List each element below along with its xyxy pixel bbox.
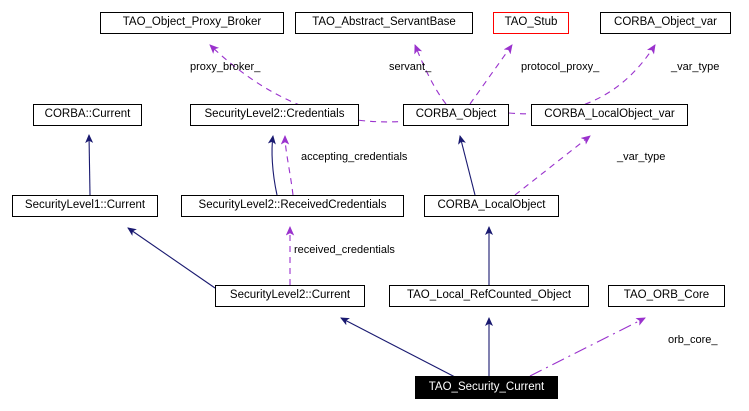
class-node-label: CORBA_LocalObject_var [544, 109, 674, 121]
class-node-securitylevel2-receivedcredentials[interactable]: SecurityLevel2::ReceivedCredentials [181, 195, 404, 217]
class-node-label: CORBA_LocalObject [437, 200, 545, 212]
class-node-tao-stub[interactable]: TAO_Stub [493, 12, 569, 34]
class-node-label: CORBA_Object_var [614, 17, 717, 29]
edge-label-received-credentials: received_credentials [294, 245, 395, 256]
edge-assoc-accepting-credentials [285, 136, 293, 195]
class-node-label: SecurityLevel2::ReceivedCredentials [199, 200, 387, 212]
edge-label-var-type-top: _var_type [671, 62, 719, 73]
edge-corba-current-securitylevel1-current [89, 135, 90, 195]
class-node-label: TAO_Abstract_ServantBase [312, 17, 456, 29]
edge-label-protocol-proxy: protocol_proxy_ [521, 62, 599, 73]
class-node-label: TAO_ORB_Core [624, 290, 709, 302]
class-node-label: CORBA_Object [416, 109, 497, 121]
class-node-label: SecurityLevel1::Current [25, 200, 145, 212]
class-node-label: SecurityLevel2::Current [230, 290, 350, 302]
class-node-label: SecurityLevel2::Credentials [205, 109, 345, 121]
edge-assoc-orb-core [530, 318, 645, 376]
class-node-label: TAO_Security_Current [429, 382, 544, 394]
class-node-tao-object-proxy-broker[interactable]: TAO_Object_Proxy_Broker [100, 12, 284, 34]
class-node-securitylevel2-current[interactable]: SecurityLevel2::Current [215, 285, 365, 307]
class-node-label: TAO_Stub [505, 17, 558, 29]
edge-assoc-var-type-mid [515, 136, 590, 195]
class-node-label: TAO_Object_Proxy_Broker [123, 17, 261, 29]
association-edges [210, 45, 655, 285]
class-node-label: TAO_Local_RefCounted_Object [407, 290, 571, 302]
edge-label-orb-core: orb_core_ [668, 335, 718, 346]
class-node-corba-localobject-var[interactable]: CORBA_LocalObject_var [531, 104, 688, 126]
edge-assoc-protocol-proxy [470, 45, 512, 104]
class-node-tao-orb-core[interactable]: TAO_ORB_Core [608, 285, 725, 307]
edge-label-servant: servant_ [389, 62, 431, 73]
uml-class-diagram: TAO_Object_Proxy_Broker TAO_Abstract_Ser… [0, 0, 749, 411]
edge-label-accepting-credentials: accepting_credentials [301, 152, 407, 163]
edge-label-var-type-mid: _var_type [617, 152, 665, 163]
edge-securitylevel2-current-tao-security-current [341, 318, 455, 377]
class-node-securitylevel1-current[interactable]: SecurityLevel1::Current [12, 195, 158, 217]
class-node-securitylevel2-credentials[interactable]: SecurityLevel2::Credentials [190, 104, 359, 126]
class-node-corba-object-var[interactable]: CORBA_Object_var [600, 12, 731, 34]
edge-corba-object-corba-localobject [460, 136, 475, 195]
class-node-tao-security-current[interactable]: TAO_Security_Current [415, 376, 558, 399]
edge-securitylevel1-current-securitylevel2-current [128, 228, 215, 288]
class-node-corba-object[interactable]: CORBA_Object [403, 104, 509, 126]
class-node-corba-current[interactable]: CORBA::Current [33, 104, 142, 126]
edge-credentials-receivedcredentials [272, 136, 277, 195]
class-node-label: CORBA::Current [45, 109, 131, 121]
class-node-tao-abstract-servantbase[interactable]: TAO_Abstract_ServantBase [295, 12, 473, 34]
edge-assoc-servant [415, 45, 446, 104]
class-node-corba-localobject[interactable]: CORBA_LocalObject [424, 195, 559, 217]
association-edges-dashdot [530, 318, 645, 376]
class-node-tao-local-refcounted-object[interactable]: TAO_Local_RefCounted_Object [389, 285, 589, 307]
edge-label-proxy-broker: proxy_broker_ [190, 62, 260, 73]
